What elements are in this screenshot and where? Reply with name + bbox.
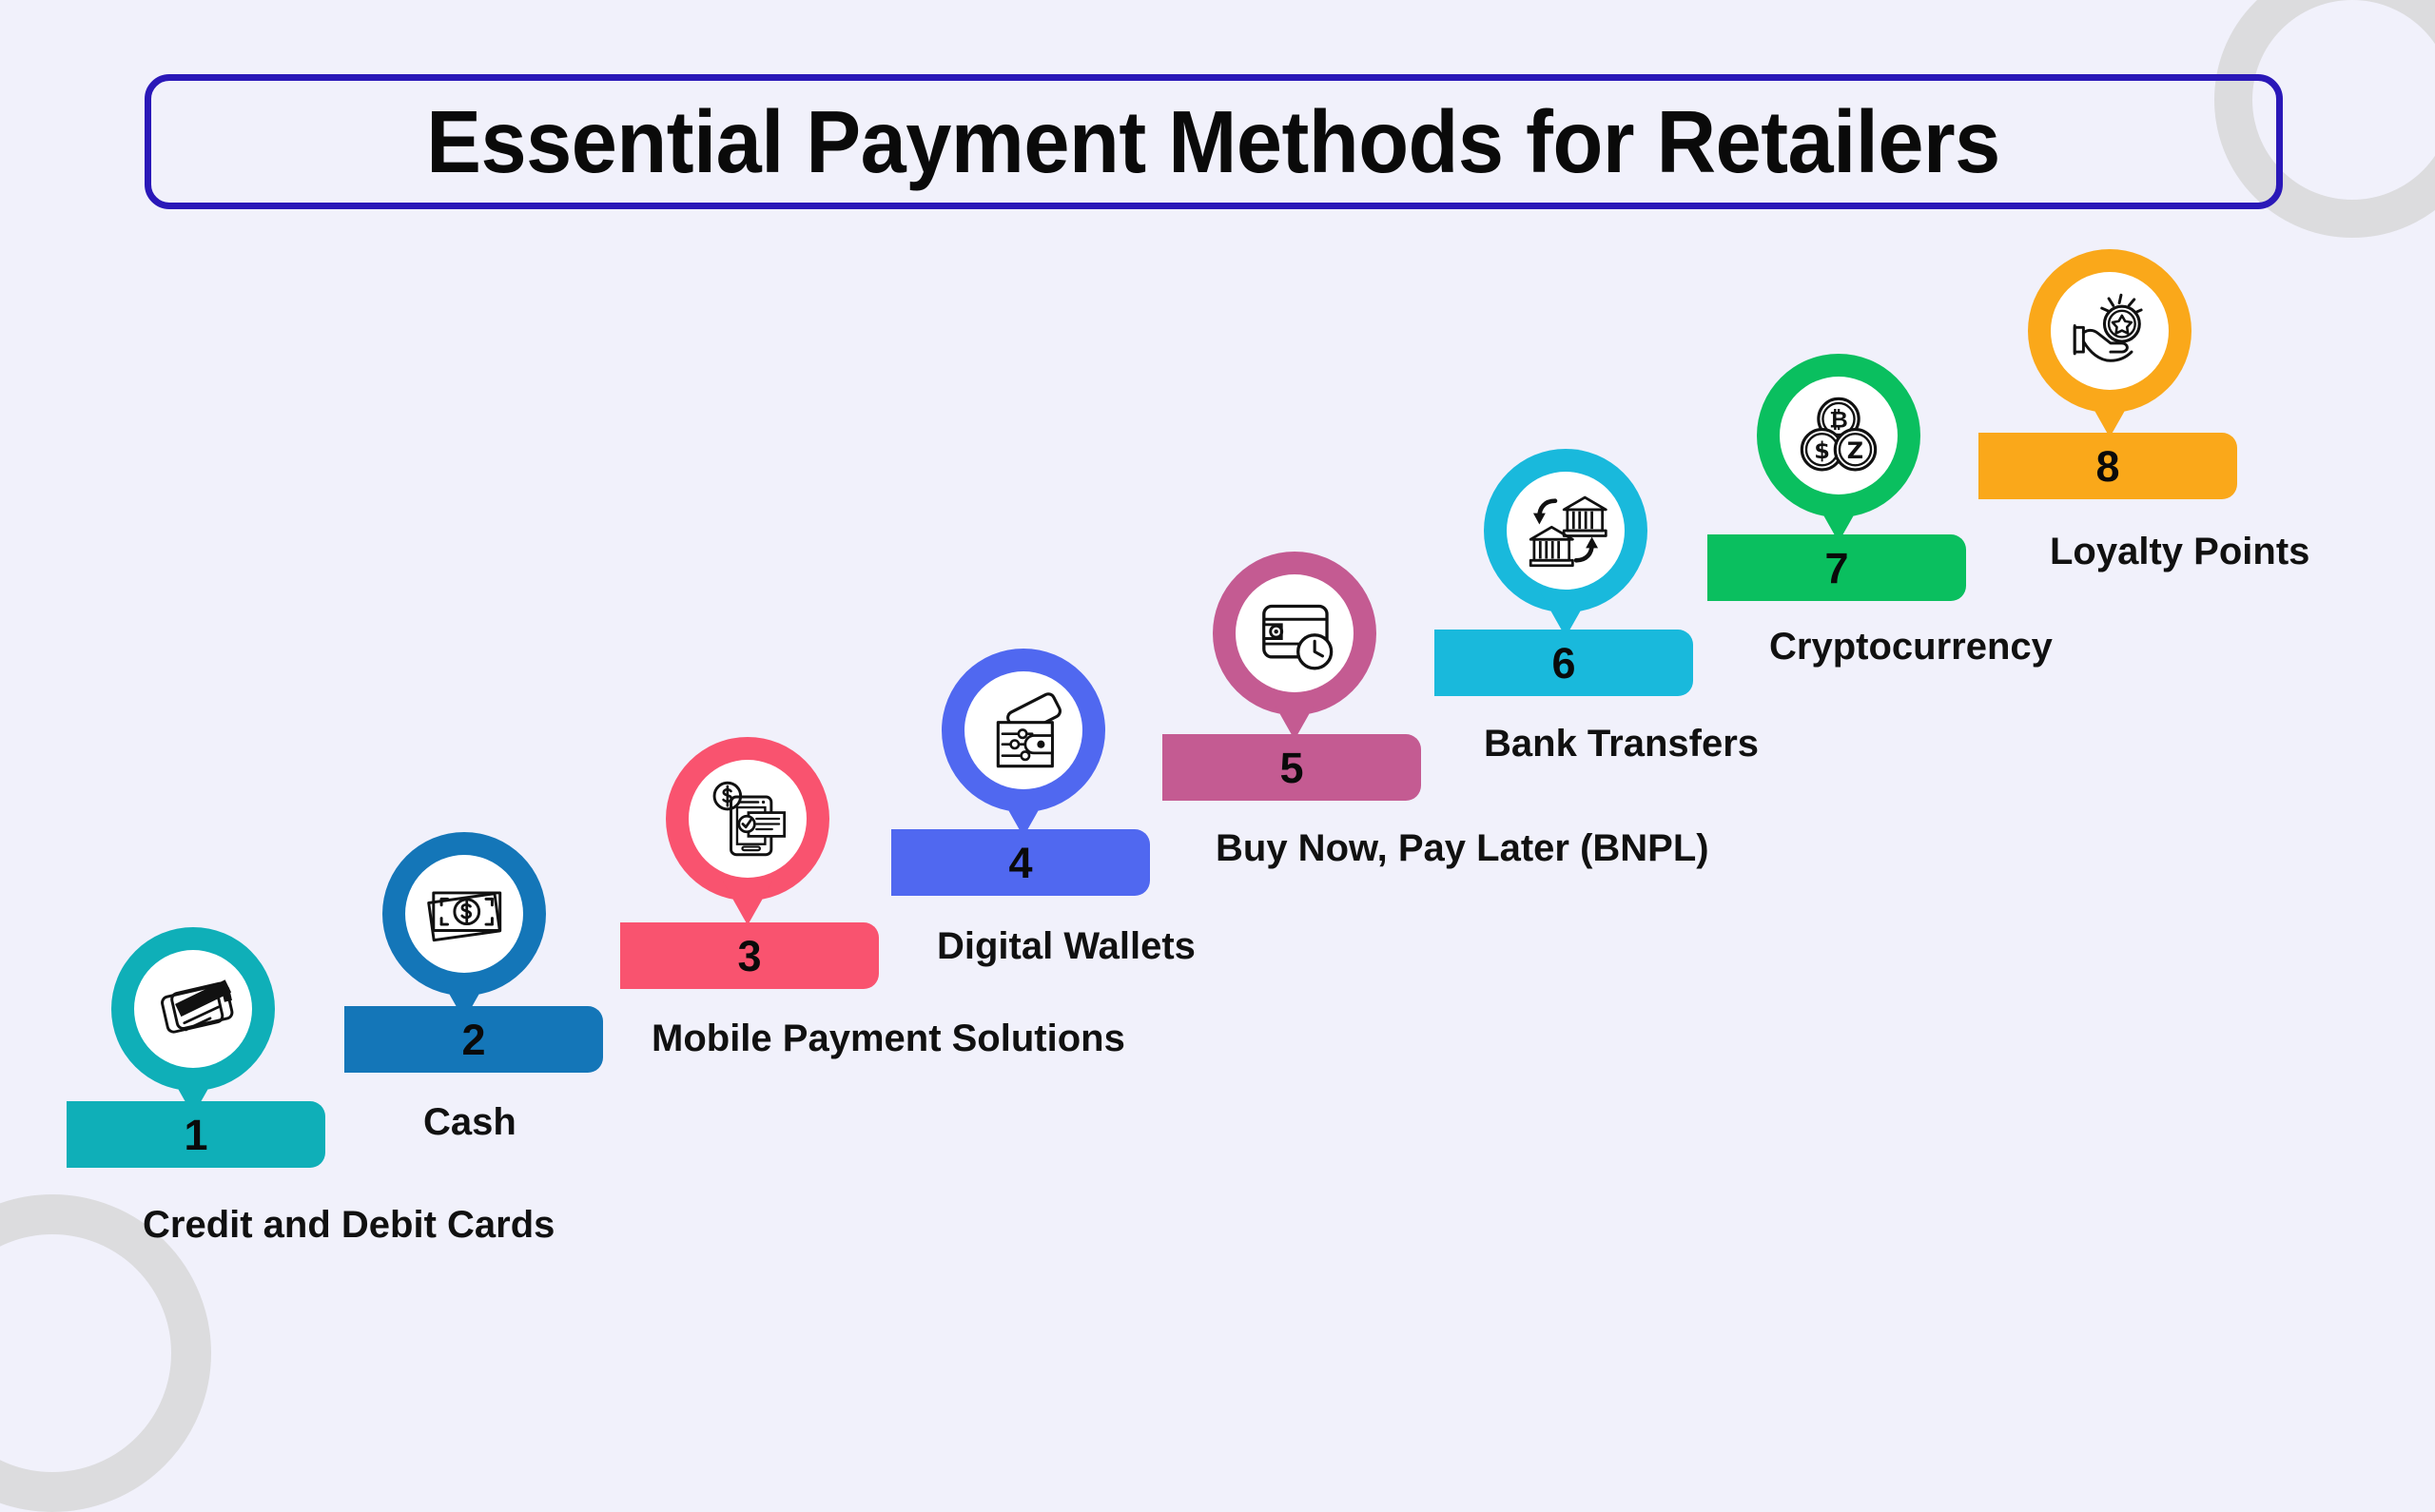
step-number-bar-7[interactable]: 7 bbox=[1707, 534, 1966, 601]
step-pin-face-6 bbox=[1507, 472, 1625, 590]
step-number-bar-4[interactable]: 4 bbox=[891, 829, 1150, 896]
step-pin-tail-3 bbox=[723, 882, 772, 925]
step-pin-6[interactable] bbox=[1484, 449, 1647, 612]
step-pin-face-2 bbox=[405, 855, 523, 973]
step-number-bar-3[interactable]: 3 bbox=[620, 922, 879, 989]
step-number-bar-5[interactable]: 5 bbox=[1162, 734, 1421, 801]
step-pin-face-1 bbox=[134, 950, 252, 1068]
step-number-bar-1[interactable]: 1 bbox=[67, 1101, 325, 1168]
step-number-1: 1 bbox=[184, 1114, 207, 1156]
step-pin-5[interactable] bbox=[1213, 552, 1376, 715]
step-label-5: Buy Now, Pay Later (BNPL) bbox=[1216, 829, 1709, 867]
crypto-coins-icon bbox=[1795, 392, 1882, 479]
step-pin-face-4 bbox=[964, 671, 1082, 789]
step-number-2: 2 bbox=[461, 1018, 485, 1061]
step-number-8: 8 bbox=[2095, 445, 2119, 488]
wallet-clock-icon bbox=[1251, 590, 1338, 677]
step-number-7: 7 bbox=[1824, 547, 1848, 590]
step-number-4: 4 bbox=[1008, 842, 1032, 884]
step-number-bar-6[interactable]: 6 bbox=[1434, 630, 1693, 696]
step-pin-8[interactable] bbox=[2028, 249, 2191, 413]
step-pin-1[interactable] bbox=[111, 927, 275, 1091]
step-pin-7[interactable] bbox=[1757, 354, 1920, 517]
step-number-3: 3 bbox=[737, 935, 761, 978]
banknotes-icon bbox=[420, 870, 508, 958]
step-pin-tail-8 bbox=[2085, 394, 2134, 437]
bank-transfer-icon bbox=[1522, 487, 1609, 574]
step-label-1: Credit and Debit Cards bbox=[143, 1206, 555, 1244]
step-number-5: 5 bbox=[1279, 746, 1303, 789]
step-pin-2[interactable] bbox=[382, 832, 546, 996]
step-number-bar-2[interactable]: 2 bbox=[344, 1006, 603, 1073]
step-label-2: Cash bbox=[423, 1103, 516, 1141]
digital-wallet-icon bbox=[980, 687, 1067, 774]
step-pin-face-8 bbox=[2051, 272, 2169, 390]
loyalty-hand-coin-icon bbox=[2066, 287, 2153, 375]
step-pin-4[interactable] bbox=[942, 649, 1105, 812]
step-pin-face-3 bbox=[689, 760, 807, 878]
step-pin-face-5 bbox=[1236, 574, 1354, 692]
step-label-3: Mobile Payment Solutions bbox=[652, 1019, 1125, 1057]
step-number-bar-8[interactable]: 8 bbox=[1978, 433, 2237, 499]
step-label-4: Digital Wallets bbox=[937, 927, 1196, 965]
step-label-6: Bank Transfers bbox=[1484, 725, 1759, 763]
smartphone-payment-icon bbox=[704, 775, 791, 863]
step-pin-face-7 bbox=[1780, 377, 1898, 494]
step-number-6: 6 bbox=[1551, 642, 1575, 685]
credit-card-icon bbox=[149, 965, 237, 1053]
step-label-8: Loyalty Points bbox=[2050, 533, 2309, 571]
staircase-steps: 1Credit and Debit Cards2Cash3Mobile Paym… bbox=[0, 0, 2435, 1369]
step-label-7: Cryptocurrency bbox=[1769, 628, 2053, 666]
step-pin-3[interactable] bbox=[666, 737, 829, 901]
